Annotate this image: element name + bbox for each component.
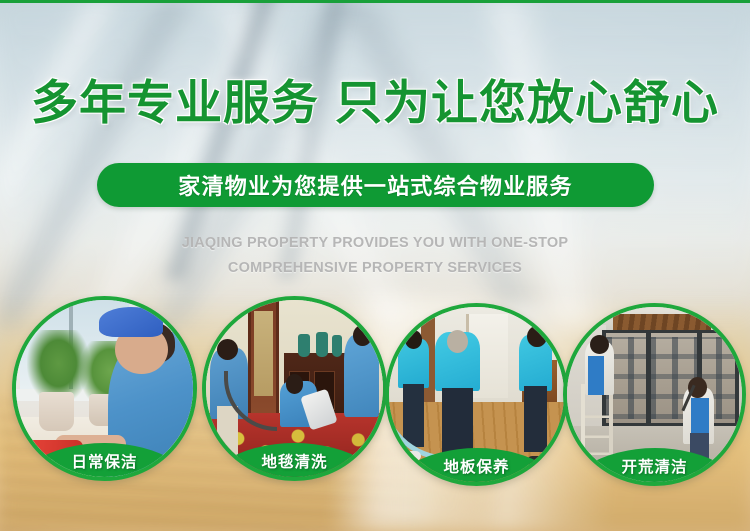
service-label: 开荒清洁 [621, 455, 687, 477]
head-shape [527, 326, 546, 347]
top-green-rule [0, 0, 750, 3]
service-circle-carpet-cleaning[interactable]: 地毯清洗 [202, 296, 387, 481]
tagline-text: 家清物业为您提供一站式综合物业服务 [178, 169, 572, 201]
leg-shape [524, 386, 547, 453]
service-label: 地板保养 [443, 455, 509, 477]
worker-figure [344, 335, 379, 416]
english-subtitle-line-2: COMPREHENSIVE PROPERTY SERVICES [0, 256, 750, 281]
service-label: 地毯清洗 [262, 450, 328, 472]
head-shape [447, 330, 468, 353]
service-circle-daily-cleaning[interactable]: 日常保洁 [12, 296, 197, 481]
service-label: 日常保洁 [72, 450, 138, 472]
headline-part-2: 只为让您放心舒心 [335, 76, 719, 129]
window-mullion-icon [646, 330, 651, 426]
english-subtitle-line-1: JIAQING PROPERTY PROVIDES YOU WITH ONE-S… [0, 231, 750, 256]
apron-shape [588, 356, 604, 395]
head-shape [217, 339, 238, 360]
vase-icon [298, 334, 310, 357]
service-circle-floor-maintenance[interactable]: 地板保养 [385, 303, 568, 486]
building-windows [606, 337, 736, 419]
promo-banner: 多年专业服务只为让您放心舒心 家清物业为您提供一站式综合物业服务 JIAQING… [0, 0, 750, 531]
vase-icon [332, 335, 343, 356]
blue-cap-icon [99, 307, 163, 337]
ceiling-beam [613, 314, 711, 330]
head-shape [286, 374, 304, 393]
leg-shape [217, 406, 238, 459]
vase-icon [316, 332, 328, 357]
tagline-pill: 家清物业为您提供一站式综合物业服务 [97, 163, 654, 207]
english-subtitle: JIAQING PROPERTY PROVIDES YOU WITH ONE-S… [0, 231, 750, 281]
apron-shape [691, 398, 709, 437]
service-circle-post-construction-cleaning[interactable]: 开荒清洁 [563, 303, 746, 486]
ladder-icon [581, 384, 613, 461]
head-shape [405, 330, 423, 349]
flower-pot-icon [39, 392, 74, 431]
page-title: 多年专业服务只为让您放心舒心 [0, 79, 750, 126]
headline-part-1: 多年专业服务 [31, 76, 319, 129]
